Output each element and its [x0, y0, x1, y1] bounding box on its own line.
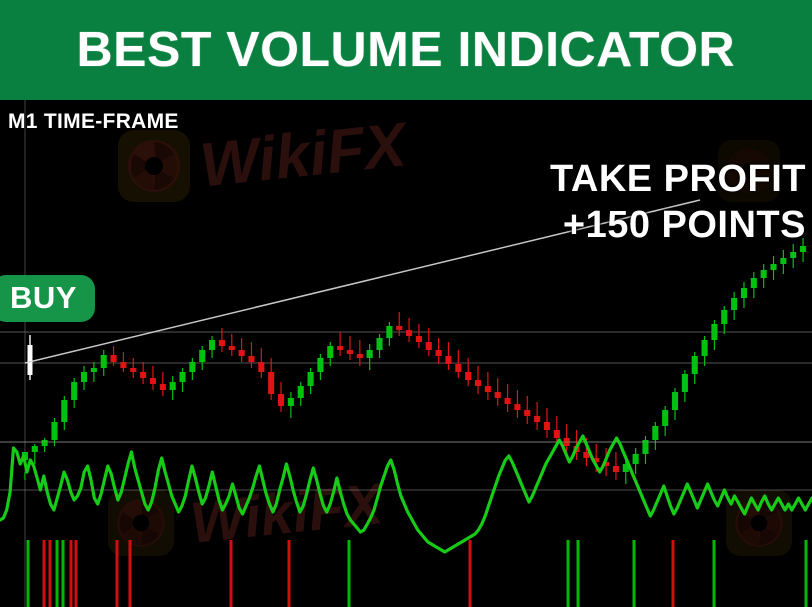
- timeframe-label: M1 TIME-FRAME: [8, 110, 179, 134]
- take-profit-annotation: TAKE PROFIT +150 POINTS: [550, 156, 806, 249]
- page-title: BEST VOLUME INDICATOR: [77, 22, 736, 78]
- chart-area: WikiFX WikiFX: [0, 100, 812, 607]
- buy-signal-badge: BUY: [0, 275, 95, 322]
- screenshot-root: BEST VOLUME INDICATOR WikiFX: [0, 0, 812, 607]
- points-label: +150 POINTS: [550, 202, 806, 248]
- take-profit-label: TAKE PROFIT: [550, 156, 806, 202]
- header-banner: BEST VOLUME INDICATOR: [0, 0, 812, 100]
